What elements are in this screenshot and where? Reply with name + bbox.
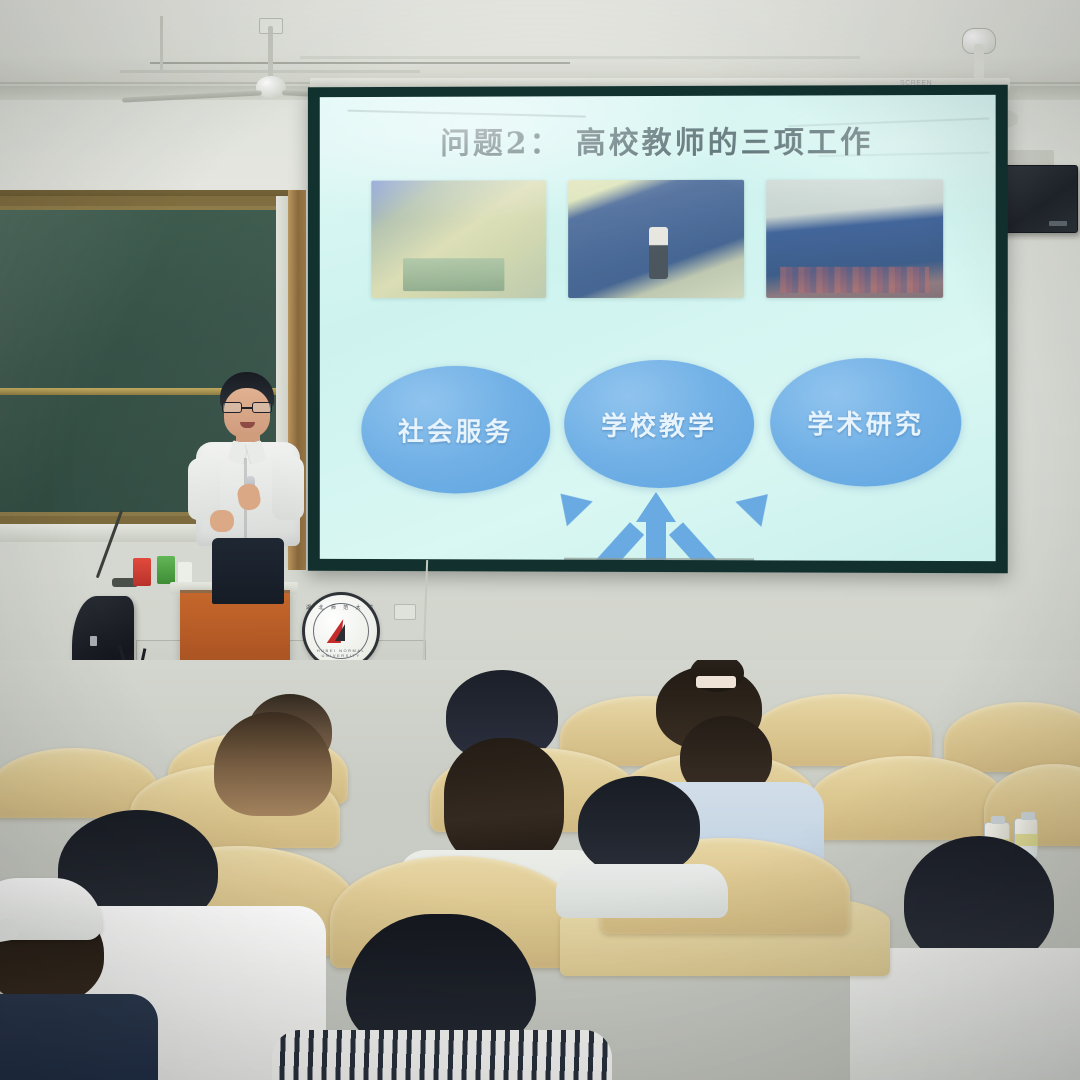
slide-title: 问题2： 高校教师的三项工作 bbox=[320, 117, 996, 163]
arrow-to-academic-research-icon bbox=[670, 484, 790, 561]
slide-node-school-teaching: 学校教学 bbox=[564, 360, 754, 488]
bottle-cap bbox=[1021, 812, 1035, 820]
seal-bottom-text: HUBEI NORMAL UNIVERSITY bbox=[305, 648, 377, 658]
slide-photo-lecture-room bbox=[371, 180, 546, 298]
audience-torso-striped bbox=[272, 1030, 612, 1080]
slide-photo-teacher-at-blackboard bbox=[564, 558, 754, 561]
presenter-sleeve-right bbox=[272, 456, 304, 520]
speaker-badge bbox=[1049, 221, 1067, 226]
presentation-slide: 问题2： 高校教师的三项工作 社会服务 学校教学 学术研究 bbox=[320, 95, 996, 561]
slide-node-academic-research: 学术研究 bbox=[770, 358, 961, 487]
presenter-hand-left bbox=[210, 510, 234, 532]
slide-node-1-label: 社会服务 bbox=[398, 411, 513, 448]
audience-head bbox=[444, 738, 564, 866]
glasses-bridge bbox=[242, 407, 252, 409]
chalk-box-green bbox=[157, 556, 175, 584]
presenter-trousers bbox=[212, 538, 284, 604]
chalk-box-red bbox=[133, 558, 151, 586]
arrow-left-shaft bbox=[577, 522, 645, 561]
arrow-to-social-service-icon bbox=[524, 484, 644, 561]
backpack-tag bbox=[90, 636, 97, 646]
seal-top-text: 湖 北 师 范 大 学 bbox=[305, 604, 377, 611]
slide-photo-row bbox=[371, 179, 943, 298]
audience-torso bbox=[556, 864, 728, 918]
projection-screen: 问题2： 高校教师的三项工作 社会服务 学校教学 学术研究 bbox=[308, 85, 1008, 574]
list-item bbox=[200, 712, 350, 832]
conduit-pipe-2 bbox=[300, 56, 860, 59]
wall-outlet bbox=[394, 604, 416, 620]
slide-photo-award-ceremony bbox=[766, 179, 943, 298]
university-seal: 湖 北 师 范 大 学 HUBEI NORMAL UNIVERSITY bbox=[302, 592, 380, 670]
conduit-drop bbox=[160, 16, 163, 72]
audience-head bbox=[578, 776, 700, 876]
slide-photo-conference-speaker bbox=[568, 180, 744, 298]
audience-area bbox=[0, 660, 1080, 1080]
list-item bbox=[0, 860, 146, 1080]
glasses-lens-right bbox=[252, 402, 272, 413]
presenter-face bbox=[224, 388, 270, 438]
seal-triangle-dark bbox=[335, 624, 345, 641]
screen-glare-streak-1 bbox=[348, 110, 587, 118]
list-item bbox=[860, 836, 1080, 1080]
lecture-hall-photo: SCREEN 问题2： 高校教师的三项工作 社会服务 学校教学 bbox=[0, 0, 1080, 1080]
audience-torso bbox=[0, 994, 158, 1080]
seal-logo-mark bbox=[326, 618, 356, 644]
ceiling-seam bbox=[150, 62, 570, 64]
fan-rod bbox=[268, 26, 273, 80]
slide-node-social-service: 社会服务 bbox=[361, 366, 550, 494]
glasses-icon bbox=[222, 402, 272, 413]
arrow-right-shaft bbox=[669, 522, 737, 561]
slide-node-2-label: 学校教学 bbox=[601, 405, 717, 442]
list-item bbox=[560, 776, 720, 896]
arrow-left-head bbox=[548, 481, 593, 526]
audience-head bbox=[214, 712, 332, 816]
arrow-mid-shaft bbox=[646, 518, 666, 561]
hair-clip bbox=[696, 676, 736, 688]
presenter bbox=[186, 372, 306, 600]
list-item bbox=[276, 914, 606, 1080]
glasses-lens-left bbox=[222, 402, 242, 413]
bottle-cap bbox=[991, 816, 1005, 824]
slide-node-3-label: 学术研究 bbox=[807, 404, 924, 441]
arrow-right-head bbox=[735, 482, 780, 527]
